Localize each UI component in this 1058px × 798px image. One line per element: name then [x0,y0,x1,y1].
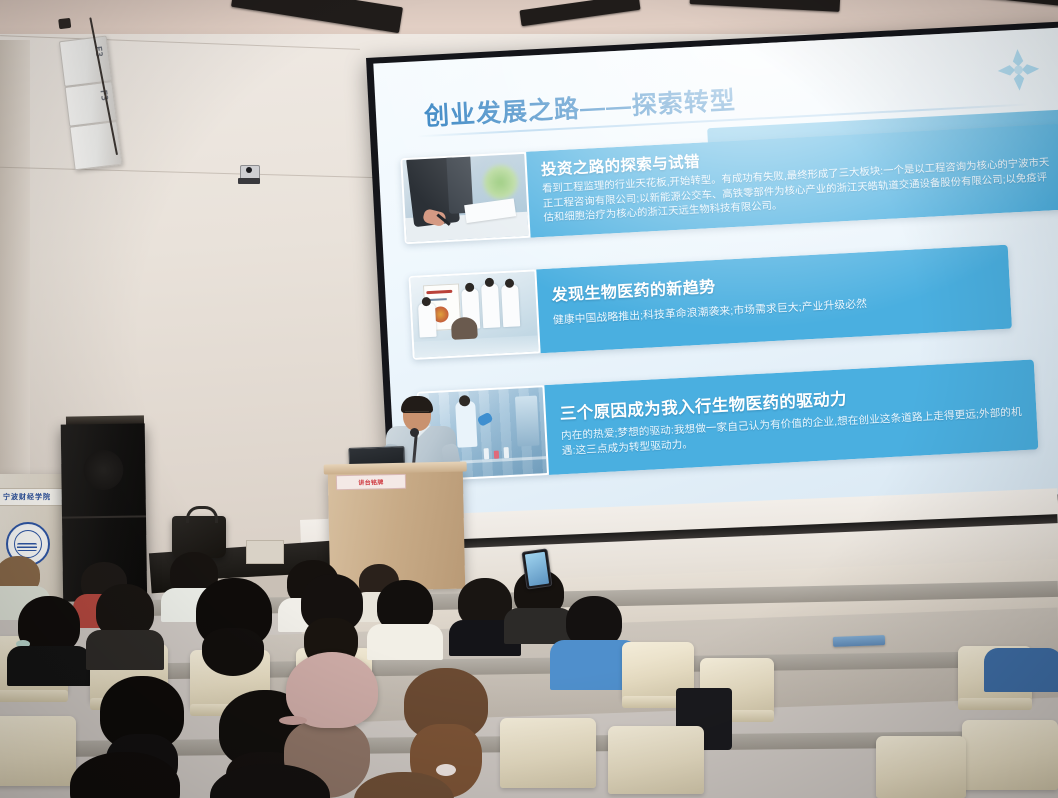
speaker-module-1 [59,36,112,88]
body [86,630,164,670]
content-block: 三个原因成为我入行生物医药的驱动力 内在的热爱;梦想的驱动:我想做一家自己认为有… [417,359,1039,481]
block-thumbnail [408,269,540,360]
ptz-camera-icon [238,165,260,187]
audience-member [88,584,162,660]
audience-member [186,578,282,670]
podium-top [324,462,467,475]
business-writing-photo [402,154,528,242]
camera-lens [246,167,252,173]
audience-member [10,596,88,676]
slide-surface: 创业发展之路——探索转型 投资之路的探索与 [373,28,1058,529]
head [354,772,454,798]
glasses-icon [405,411,429,417]
body [984,648,1058,692]
content-block: 发现生物医药的新趋势 健康中国战略推出;科技革命浪潮袭来;市场需求巨大;产业升级… [408,245,1012,360]
seat[interactable] [608,726,704,794]
body [367,624,443,660]
audience-member [60,752,190,798]
speaker-cone [83,450,124,491]
long-hair [202,628,264,676]
audience-member [988,636,1058,690]
podium-nameplate: 讲台铭牌 [336,474,406,490]
seat[interactable] [500,718,596,788]
content-block: 投资之路的探索与试错 看到工程监理的行业天花板,开始转型。有成功有失败,最终形成… [400,124,1058,244]
lecture-hall-photo: F3 F3 创业发展之路——探索转型 [0,0,1058,798]
audience-member [370,580,440,654]
speaker-mount [58,18,71,29]
microphone-icon [410,428,419,437]
block-body: 发现生物医药的新趋势 健康中国战略推出;科技革命浪潮袭来;市场需求巨大;产业升级… [536,245,1012,354]
audience [0,540,1058,798]
projection-screen: 创业发展之路——探索转型 投资之路的探索与 [366,21,1058,557]
side-podium-band-text: 宁波财经学院 [0,492,51,502]
head [210,764,330,798]
lab-coat-team-photo [411,271,539,357]
seat[interactable] [876,736,966,798]
smartphone[interactable] [521,548,552,589]
camera-base [238,178,260,184]
slide-title: 创业发展之路——探索转型 [423,81,736,133]
head [70,752,180,798]
block-thumbnail [400,152,530,244]
speaker-seam [62,515,146,518]
decorative-flourish-icon [991,43,1046,98]
audience-member [292,574,372,662]
side-podium-band: 宁波财经学院 [0,488,70,506]
podium-nameplate-text: 讲台铭牌 [358,477,383,487]
audience-member [560,596,628,676]
body [7,646,91,686]
block-body: 三个原因成为我入行生物医药的驱动力 内在的热爱;梦想的驱动:我想做一家自己认为有… [544,359,1038,475]
block-body: 投资之路的探索与试错 看到工程监理的行业天花板,开始转型。有成功有失败,最终形成… [526,124,1058,238]
audience-member [344,772,464,798]
audience-member [200,764,340,798]
seat[interactable] [962,720,1058,790]
pink-cap [286,652,378,728]
